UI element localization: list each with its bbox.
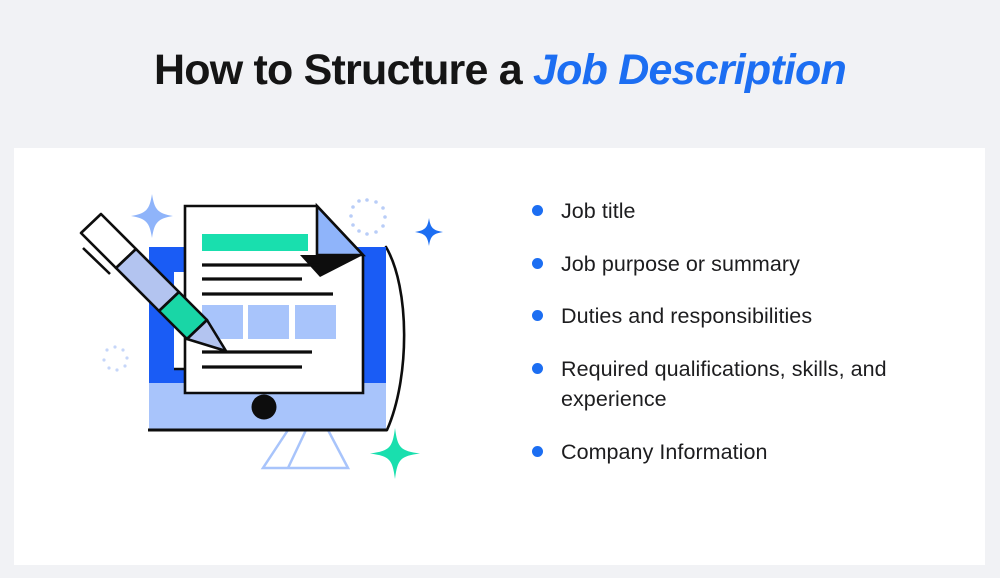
power-button (252, 395, 277, 420)
list-item-label: Required qualifications, skills, and exp… (561, 354, 891, 415)
list-item: Job title (532, 196, 952, 227)
monitor-stand (263, 430, 348, 468)
job-description-document (185, 206, 363, 393)
list-item-label: Job purpose or summary (561, 249, 800, 280)
list-item-label: Company Information (561, 437, 768, 468)
bullet-dot-icon (532, 446, 543, 457)
bullet-dot-icon (532, 363, 543, 374)
bullet-dot-icon (532, 258, 543, 269)
monitor-curved-edge (386, 247, 404, 430)
list-item: Job purpose or summary (532, 249, 952, 280)
page-title: How to Structure a Job Description (154, 49, 846, 100)
list-item-label: Job title (561, 196, 636, 227)
document-fold-light (317, 206, 363, 255)
dotted-circle-small-icon (102, 345, 128, 371)
page-title-plain: How to Structure a (154, 46, 533, 94)
list-item-label: Duties and responsibilities (561, 301, 812, 332)
sparkle-icon-teal (370, 428, 420, 479)
dotted-circle-icon (349, 198, 387, 236)
document-content-boxes (202, 305, 336, 339)
list-item: Duties and responsibilities (532, 301, 952, 332)
bullet-dot-icon (532, 205, 543, 216)
document-box-3 (295, 305, 336, 339)
sparkle-icon-blue-large (131, 194, 173, 238)
bullet-dot-icon (532, 310, 543, 321)
bottom-strip (0, 565, 1000, 578)
header-band: How to Structure a Job Description (0, 0, 1000, 148)
list-item: Required qualifications, skills, and exp… (532, 354, 952, 415)
job-description-illustration (74, 178, 474, 508)
page-title-accent: Job Description (533, 46, 846, 94)
structure-bullet-list: Job title Job purpose or summary Duties … (532, 196, 952, 467)
content-card: Job title Job purpose or summary Duties … (14, 148, 985, 565)
document-header-bar (202, 234, 308, 251)
list-item: Company Information (532, 437, 952, 468)
document-box-2 (248, 305, 289, 339)
sparkle-icon-blue-small (415, 218, 443, 246)
